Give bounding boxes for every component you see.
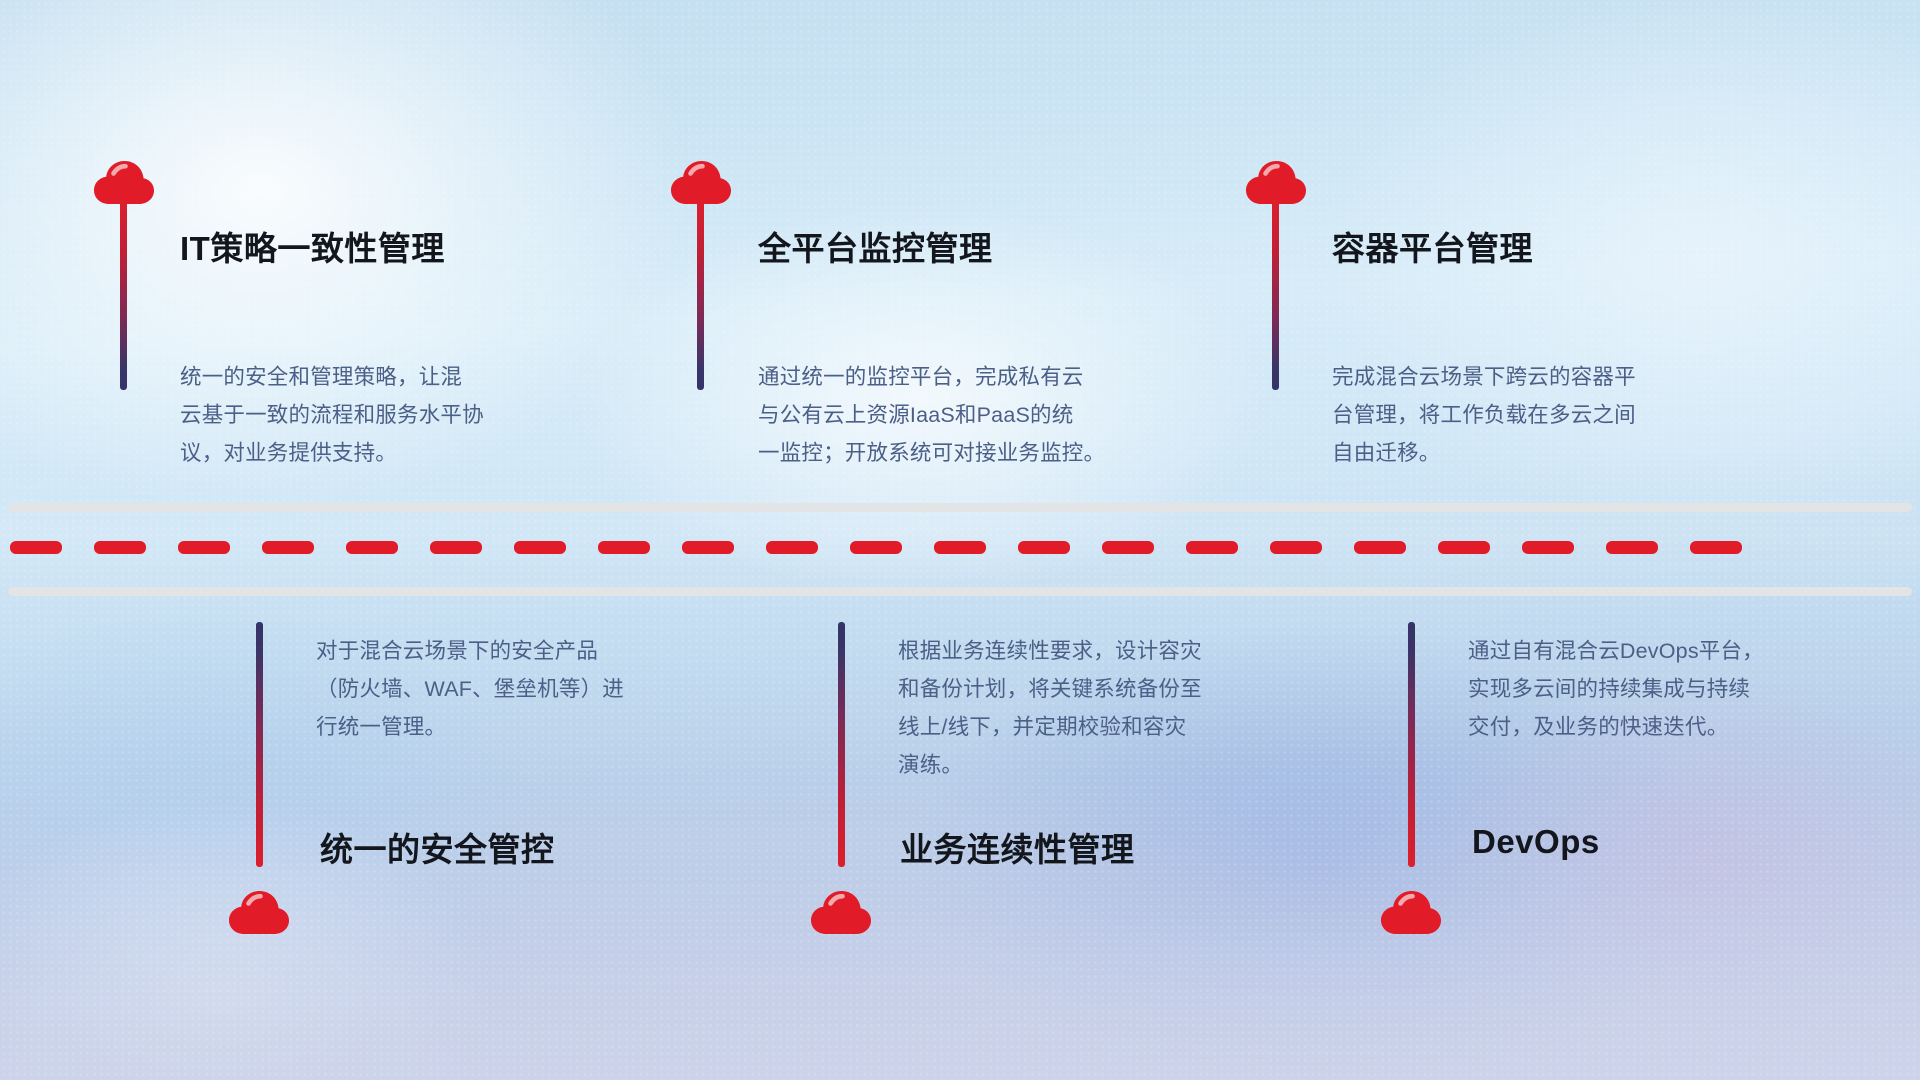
body-devops: 通过自有混合云DevOps平台， 实现多云间的持续集成与持续 交付，及业务的快速… [1468,632,1898,746]
road-dash [430,541,482,554]
body-it-policy-consistency: 统一的安全和管理策略，让混 云基于一致的流程和服务水平协 议，对业务提供支持。 [180,358,610,472]
heading-unified-security: 统一的安全管控 [320,823,555,871]
road-dash [1354,541,1406,554]
heading-container-platform: 容器平台管理 [1332,222,1533,270]
road-dash [1690,541,1742,554]
road-dash [934,541,986,554]
pin-stem [1272,200,1279,390]
road-dash [1186,541,1238,554]
road-dash [850,541,902,554]
pin-stem [120,200,127,390]
body-full-platform-monitoring: 通过统一的监控平台，完成私有云 与公有云上资源IaaS和PaaS的统 一监控；开… [758,358,1198,472]
road-dash [1522,541,1574,554]
road-dash [94,541,146,554]
road-dash-row [0,540,1920,554]
pin-stem [838,622,845,867]
road-dash [178,541,230,554]
heading-it-policy-consistency: IT策略一致性管理 [180,222,445,270]
body-business-continuity: 根据业务连续性要求，设计容灾 和备份计划，将关键系统备份至 线上/线下，并定期校… [898,632,1328,784]
body-unified-security: 对于混合云场景下的安全产品 （防火墙、WAF、堡垒机等）进 行统一管理。 [316,632,736,746]
road-dash [1438,541,1490,554]
road-dash [1270,541,1322,554]
road-dash [682,541,734,554]
road-line-bottom [8,587,1912,596]
heading-full-platform-monitoring: 全平台监控管理 [758,222,993,270]
road-dash [514,541,566,554]
heading-business-continuity: 业务连续性管理 [900,823,1135,871]
diagram-canvas: IT策略一致性管理 统一的安全和管理策略，让混 云基于一致的流程和服务水平协 议… [0,0,1920,1080]
road-dash [1102,541,1154,554]
cloud-icon [810,890,872,936]
road-dash [766,541,818,554]
pin-stem [256,622,263,867]
pin-stem [1408,622,1415,867]
road-divider [0,490,1920,600]
pin-stem [697,200,704,390]
body-container-platform: 完成混合云场景下跨云的容器平 台管理，将工作负载在多云之间 自由迁移。 [1332,358,1762,472]
road-dash [598,541,650,554]
heading-devops: DevOps [1472,823,1600,861]
road-line-top [8,503,1912,512]
road-dash [262,541,314,554]
road-dash [10,541,62,554]
road-dash [1606,541,1658,554]
cloud-icon [1380,890,1442,936]
road-dash [1018,541,1070,554]
cloud-icon [228,890,290,936]
road-dash [346,541,398,554]
